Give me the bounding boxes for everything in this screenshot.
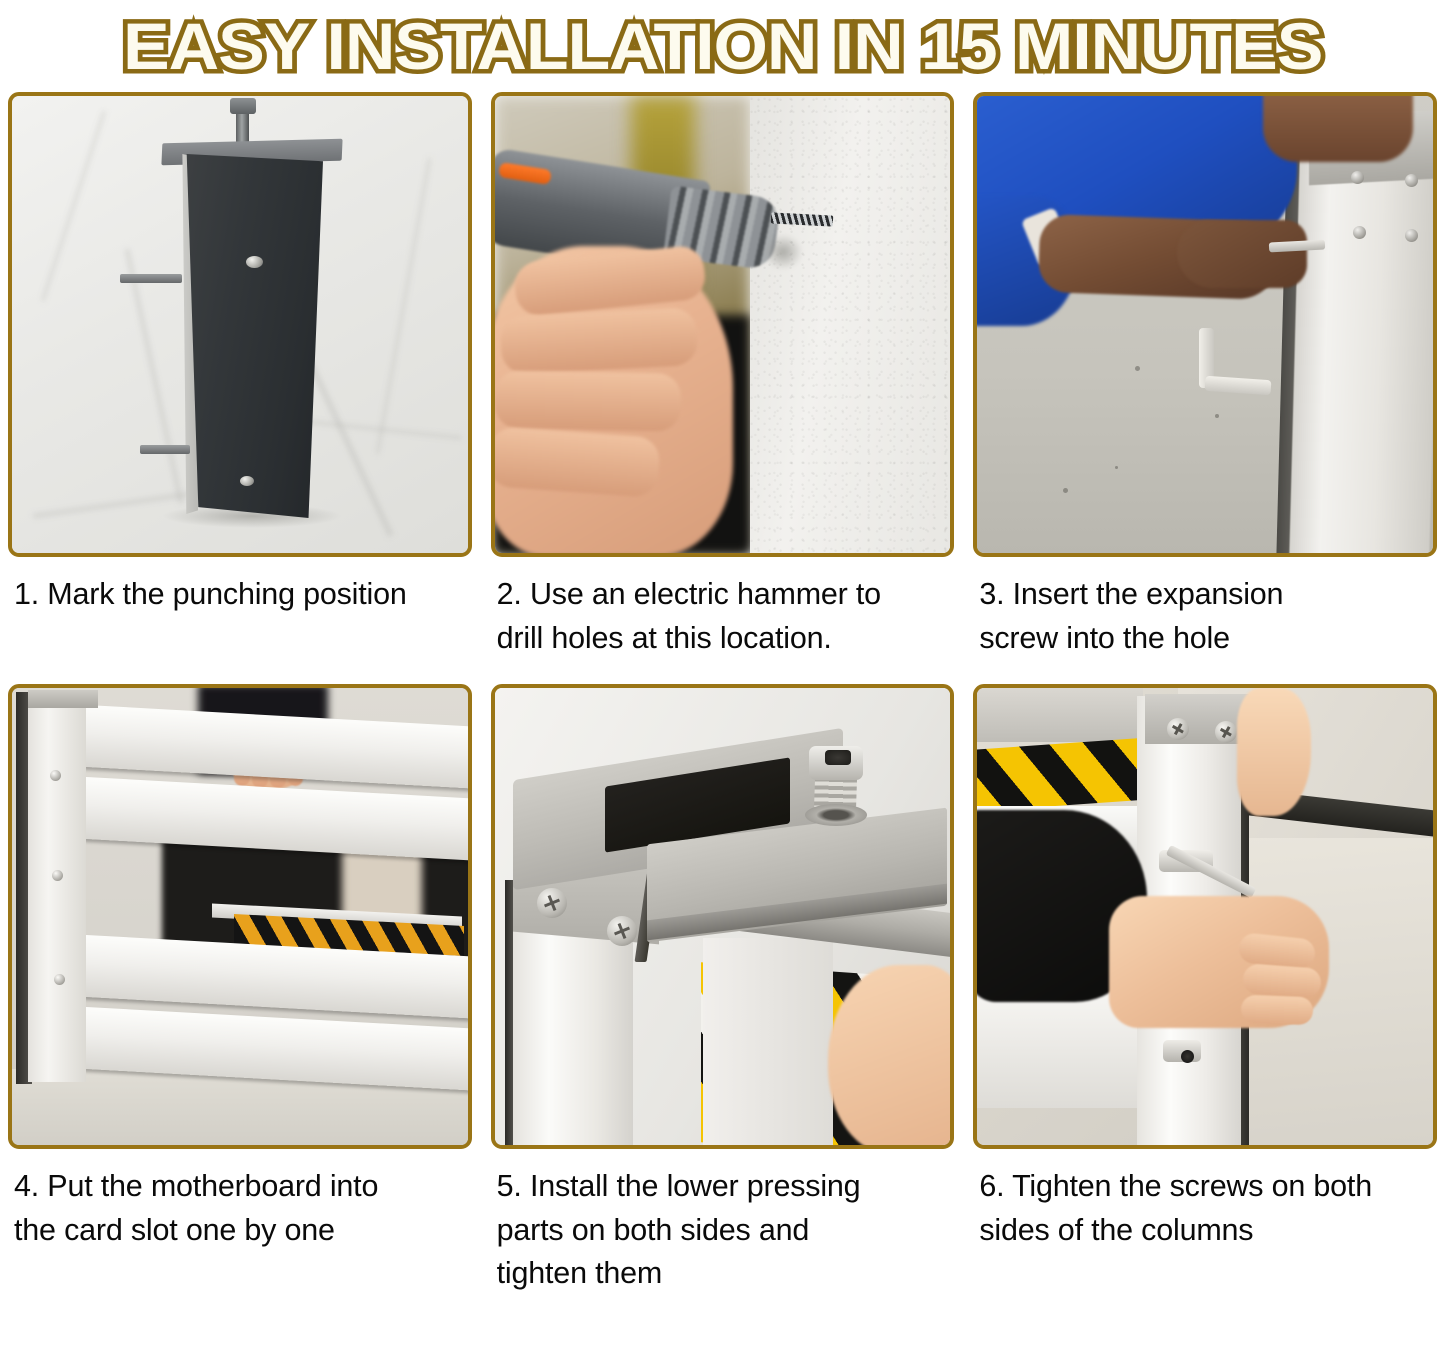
steps-grid: 1. Mark the punching position 2. Use an …	[0, 92, 1445, 660]
step-photo-frame-5[interactable]	[491, 684, 955, 1149]
step-photo-6	[977, 688, 1433, 1145]
caption-line: parts on both sides and	[497, 1209, 951, 1253]
step-photo-3	[977, 96, 1433, 553]
caption-line: drill holes at this location.	[497, 617, 951, 661]
step-card-2: 2. Use an electric hammer to drill holes…	[491, 92, 955, 660]
step-caption-6: 6. Tighten the screws on both sides of t…	[973, 1149, 1437, 1252]
step-photo-5	[495, 688, 951, 1145]
step-caption-3: 3. Insert the expansion screw into the h…	[973, 557, 1437, 660]
step-caption-5: 5. Install the lower pressing parts on b…	[491, 1149, 955, 1296]
caption-line: 4. Put the motherboard into	[14, 1165, 468, 1209]
step-photo-frame-6[interactable]	[973, 684, 1437, 1149]
step-photo-2	[495, 96, 951, 553]
step-photo-frame-3[interactable]	[973, 92, 1437, 557]
step-photo-frame-4[interactable]	[8, 684, 472, 1149]
page-title: EASY INSTALLATION IN 15 MINUTES	[112, 13, 1333, 79]
caption-line: sides of the columns	[979, 1209, 1433, 1253]
step-photo-frame-1[interactable]	[8, 92, 472, 557]
step-card-4: 4. Put the motherboard into the card slo…	[8, 684, 472, 1296]
step-caption-2: 2. Use an electric hammer to drill holes…	[491, 557, 955, 660]
step-card-6: 6. Tighten the screws on both sides of t…	[973, 684, 1437, 1296]
step-card-1: 1. Mark the punching position	[8, 92, 472, 660]
step-photo-frame-2[interactable]	[491, 92, 955, 557]
step-photo-1	[12, 96, 468, 553]
step-caption-1: 1. Mark the punching position	[8, 557, 472, 617]
caption-line: 3. Insert the expansion	[979, 573, 1433, 617]
caption-line: the card slot one by one	[14, 1209, 468, 1253]
caption-line: tighten them	[497, 1252, 951, 1296]
step-photo-4	[12, 688, 468, 1145]
caption-line: 2. Use an electric hammer to	[497, 573, 951, 617]
step-caption-4: 4. Put the motherboard into the card slo…	[8, 1149, 472, 1252]
step-card-3: 3. Insert the expansion screw into the h…	[973, 92, 1437, 660]
caption-line: screw into the hole	[979, 617, 1433, 661]
caption-line: 1. Mark the punching position	[14, 573, 468, 617]
caption-line: 5. Install the lower pressing	[497, 1165, 951, 1209]
step-card-5: 5. Install the lower pressing parts on b…	[491, 684, 955, 1296]
steps-grid-row2: 4. Put the motherboard into the card slo…	[0, 684, 1445, 1296]
caption-line: 6. Tighten the screws on both	[979, 1165, 1433, 1209]
header-banner: EASY INSTALLATION IN 15 MINUTES	[0, 0, 1445, 92]
